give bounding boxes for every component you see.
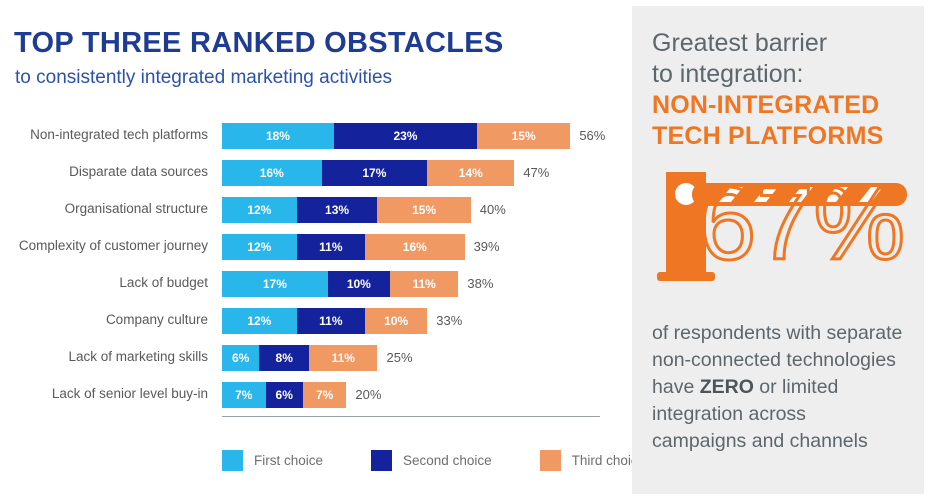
bar-row: Non-integrated tech platforms18%23%15%56… [0, 120, 632, 157]
bar-row-label: Organisational structure [0, 201, 208, 216]
bar-row-total: 56% [579, 128, 605, 143]
bar-segment-third: 16% [365, 234, 465, 260]
bar-row: Company culture12%11%10%33% [0, 305, 632, 342]
bar-row-total: 25% [387, 350, 413, 365]
bar-segment-second: 17% [322, 160, 428, 186]
bar-segment-second: 10% [328, 271, 390, 297]
legend-item: First choice [222, 450, 323, 471]
bar-row-total: 40% [480, 202, 506, 217]
callout-body: of respondents with separate non-connect… [652, 320, 904, 455]
bar-segment-first: 16% [222, 160, 322, 186]
callout-body-strong: ZERO [700, 376, 754, 398]
bar-segment-second: 6% [266, 382, 303, 408]
callout-head-line1: Greatest barrier [652, 28, 904, 59]
legend-swatch-icon [540, 450, 561, 471]
bar-track: 7%6%7% [222, 382, 346, 408]
bar-track: 12%13%15% [222, 197, 471, 223]
bar-segment-third: 7% [303, 382, 347, 408]
bar-segment-second: 13% [297, 197, 378, 223]
bar-segment-third: 10% [365, 308, 427, 334]
legend-swatch-icon [371, 450, 392, 471]
legend-label: Second choice [403, 453, 492, 468]
bar-row-label: Complexity of customer journey [0, 238, 208, 253]
bar-segment-third: 11% [309, 345, 377, 371]
bar-segment-first: 7% [222, 382, 266, 408]
bar-row-label: Lack of budget [0, 275, 208, 290]
callout-head-line2: to integration: [652, 59, 904, 90]
callout-panel: Greatest barrier to integration: NON-INT… [632, 6, 924, 494]
bar-row-total: 47% [523, 165, 549, 180]
bar-segment-second: 11% [297, 234, 365, 260]
bar-segment-third: 14% [427, 160, 514, 186]
legend-label: First choice [254, 453, 323, 468]
bar-segment-first: 12% [222, 234, 297, 260]
bar-segment-second: 11% [297, 308, 365, 334]
chart-legend: First choiceSecond choiceThird choice [222, 450, 693, 471]
bar-row-label: Lack of senior level buy-in [0, 386, 208, 401]
page-subtitle: to consistently integrated marketing act… [15, 67, 392, 89]
bar-row-label: Company culture [0, 312, 208, 327]
bar-segment-second: 8% [259, 345, 309, 371]
bar-segment-third: 11% [390, 271, 458, 297]
bar-track: 16%17%14% [222, 160, 514, 186]
stat-percentage: 67% [672, 172, 930, 275]
infographic-root: TOP THREE RANKED OBSTACLES to consistent… [0, 0, 930, 500]
bar-row-total: 39% [474, 239, 500, 254]
stacked-bar-chart: Non-integrated tech platforms18%23%15%56… [0, 120, 632, 416]
chart-axis-rule [222, 416, 600, 417]
bar-track: 12%11%16% [222, 234, 465, 260]
chart-panel: TOP THREE RANKED OBSTACLES to consistent… [0, 0, 632, 500]
bar-row: Complexity of customer journey12%11%16%3… [0, 231, 632, 268]
bar-track: 12%11%10% [222, 308, 427, 334]
bar-segment-first: 12% [222, 308, 297, 334]
stat-block: 67% [652, 164, 904, 314]
bar-segment-first: 17% [222, 271, 328, 297]
legend-swatch-icon [222, 450, 243, 471]
bar-row-label: Lack of marketing skills [0, 349, 208, 364]
bar-track: 17%10%11% [222, 271, 458, 297]
callout-emphasis-line1: NON-INTEGRATED [652, 90, 904, 121]
bar-row-label: Non-integrated tech platforms [0, 127, 208, 142]
bar-row-label: Disparate data sources [0, 164, 208, 179]
bar-track: 18%23%15% [222, 123, 570, 149]
bar-row: Lack of marketing skills6%8%11%25% [0, 342, 632, 379]
bar-track: 6%8%11% [222, 345, 377, 371]
bar-row-total: 33% [436, 313, 462, 328]
callout-emphasis-line2: TECH PLATFORMS [652, 121, 904, 152]
bar-row: Lack of budget17%10%11%38% [0, 268, 632, 305]
bar-segment-third: 15% [377, 197, 470, 223]
page-title: TOP THREE RANKED OBSTACLES [14, 27, 504, 60]
legend-item: Third choice [540, 450, 646, 471]
bar-segment-second: 23% [334, 123, 477, 149]
bar-row: Organisational structure12%13%15%40% [0, 194, 632, 231]
bar-row-total: 20% [355, 387, 381, 402]
bar-segment-first: 6% [222, 345, 259, 371]
legend-item: Second choice [371, 450, 492, 471]
bar-row: Disparate data sources16%17%14%47% [0, 157, 632, 194]
bar-row: Lack of senior level buy-in7%6%7%20% [0, 379, 632, 416]
bar-segment-first: 12% [222, 197, 297, 223]
bar-segment-third: 15% [477, 123, 570, 149]
bar-segment-first: 18% [222, 123, 334, 149]
bar-row-total: 38% [467, 276, 493, 291]
